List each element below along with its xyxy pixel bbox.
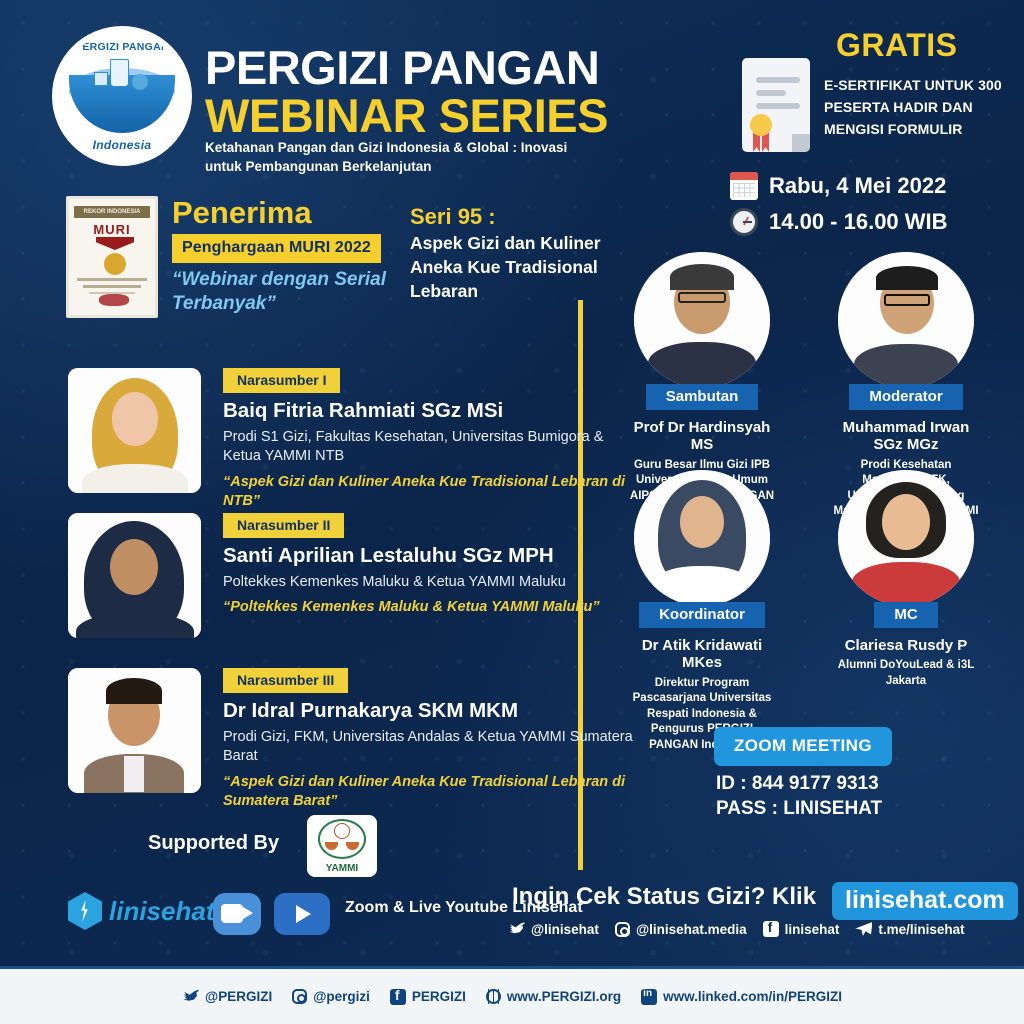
cta-text: Ingin Cek Status Gizi? Klik bbox=[512, 883, 816, 911]
speaker-affiliation-1: Prodi S1 Gizi, Fakultas Kesehatan, Unive… bbox=[223, 428, 643, 467]
social-facebook-linisehat-label: linisehat bbox=[785, 922, 840, 937]
speaker-chip-1: Narasumber I bbox=[223, 368, 340, 393]
muri-award-chip: Penghargaan MURI 2022 bbox=[172, 234, 381, 263]
certificate-icon bbox=[736, 58, 816, 158]
zoom-meeting-chip[interactable]: ZOOM MEETING bbox=[714, 727, 892, 766]
social-telegram-linisehat-label: t.me/linisehat bbox=[878, 922, 964, 937]
event-date-row: Rabu, 4 Mei 2022 bbox=[730, 172, 946, 200]
logo-arc-top-text: PERGIZI PANGAN bbox=[58, 41, 186, 53]
muri-award-quote: “Webinar dengan Serial Terbanyak” bbox=[172, 268, 407, 317]
footer-instagram-label: @pergizi bbox=[313, 989, 370, 1004]
footer-facebook-label: PERGIZI bbox=[412, 989, 466, 1004]
twitter-icon bbox=[508, 922, 525, 936]
social-instagram-linisehat-label: @linisehat.media bbox=[636, 922, 747, 937]
speaker-photo-1 bbox=[68, 368, 201, 493]
telegram-icon bbox=[855, 922, 872, 936]
footer-website-label: www.PERGIZI.org bbox=[507, 989, 621, 1004]
linisehat-social-row: @linisehat @linisehat.media linisehat t.… bbox=[508, 921, 965, 937]
zoom-meeting-credentials: ID : 844 9177 9313 PASS : LINISEHAT bbox=[716, 772, 882, 821]
poster-title-line2: WEBINAR SERIES bbox=[205, 92, 608, 139]
speaker-chip-2: Narasumber II bbox=[223, 513, 344, 538]
linisehat-hex-icon bbox=[68, 892, 102, 930]
social-telegram-linisehat[interactable]: t.me/linisehat bbox=[855, 922, 964, 937]
facebook-icon bbox=[390, 989, 406, 1005]
event-time-row: 14.00 - 16.00 WIB bbox=[730, 208, 948, 236]
panel-photo-sambutan bbox=[634, 252, 770, 388]
panel-card-koordinator: Koordinator Dr Atik Kridawati MKes Direk… bbox=[628, 470, 776, 753]
calendar-icon bbox=[730, 172, 758, 200]
linkedin-icon bbox=[641, 989, 657, 1005]
speaker-affiliation-2: Poltekkes Kemenkes Maluku & Ketua YAMMI … bbox=[223, 573, 643, 593]
panel-chip-mc: MC bbox=[874, 602, 937, 628]
footer-website[interactable]: www.PERGIZI.org bbox=[486, 989, 621, 1004]
speaker-topic-2: “Poltekkes Kemenkes Maluku & Ketua YAMMI… bbox=[223, 598, 643, 617]
muri-certificate-thumbnail: REKOR INDONESIA MURI bbox=[66, 196, 158, 318]
facebook-icon bbox=[763, 921, 779, 937]
speaker-topic-3: “Aspek Gizi dan Kuliner Aneka Kue Tradis… bbox=[223, 773, 643, 812]
footer-instagram[interactable]: @pergizi bbox=[292, 989, 370, 1004]
series-number: Seri 95 : bbox=[410, 204, 496, 230]
panel-name-koordinator: Dr Atik Kridawati MKes bbox=[628, 637, 776, 672]
panel-photo-mc bbox=[838, 470, 974, 606]
speaker-name-1: Baiq Fitria Rahmiati SGz MSi bbox=[223, 400, 643, 423]
panel-photo-moderator bbox=[838, 252, 974, 388]
speaker-photo-3 bbox=[68, 668, 201, 793]
certificate-description: E-SERTIFIKAT UNTUK 300 PESERTA HADIR DAN… bbox=[824, 74, 1024, 140]
footer-linkedin[interactable]: www.linked.com/in/PERGIZI bbox=[641, 989, 842, 1005]
panel-chip-koordinator: Koordinator bbox=[639, 602, 765, 628]
pergizi-pangan-logo: PERGIZI PANGAN Indonesia bbox=[52, 26, 192, 166]
instagram-icon bbox=[292, 989, 307, 1004]
speaker-name-2: Santi Aprilian Lestaluhu SGz MPH bbox=[223, 545, 643, 568]
panel-card-mc: MC Clariesa Rusdy P Alumni DoYouLead & i… bbox=[832, 470, 980, 689]
logo-cube-shape bbox=[94, 72, 108, 86]
footer-twitter-label: @PERGIZI bbox=[205, 989, 272, 1004]
penerima-heading: Penerima bbox=[172, 197, 312, 228]
muri-band-text: REKOR INDONESIA bbox=[74, 206, 150, 218]
event-time-text: 14.00 - 16.00 WIB bbox=[769, 209, 948, 235]
linisehat-logo: linisehat bbox=[68, 892, 214, 930]
panel-chip-sambutan: Sambutan bbox=[646, 384, 759, 410]
footer-bar: @PERGIZI @pergizi PERGIZI www.PERGIZI.or… bbox=[0, 966, 1024, 1024]
poster-canvas: PERGIZI PANGAN Indonesia PERGIZI PANGAN … bbox=[0, 0, 1024, 1024]
speaker-photo-2 bbox=[68, 513, 201, 638]
linisehat-wordmark: linisehat bbox=[109, 896, 214, 927]
speaker-chip-3: Narasumber III bbox=[223, 668, 348, 693]
logo-ball-shape bbox=[132, 74, 148, 90]
speaker-topic-1: “Aspek Gizi dan Kuliner Aneka Kue Tradis… bbox=[223, 473, 643, 512]
panel-name-moderator: Muhammad Irwan SGz MGz bbox=[832, 419, 980, 454]
social-twitter-linisehat[interactable]: @linisehat bbox=[508, 922, 599, 937]
social-instagram-linisehat[interactable]: @linisehat.media bbox=[615, 922, 747, 937]
panel-chip-moderator: Moderator bbox=[849, 384, 962, 410]
speaker-affiliation-3: Prodi Gizi, FKM, Universitas Andalas & K… bbox=[223, 728, 643, 767]
zoom-meeting-pass: PASS : LINISEHAT bbox=[716, 797, 882, 822]
yammi-logo-text: YAMMI bbox=[307, 863, 377, 874]
series-topic: Aspek Gizi dan Kuliner Aneka Kue Tradisi… bbox=[410, 232, 610, 303]
poster-title-line1: PERGIZI PANGAN bbox=[205, 44, 599, 91]
yammi-logo: YAMMI bbox=[307, 815, 377, 877]
zoom-meeting-id: ID : 844 9177 9313 bbox=[716, 772, 882, 797]
panel-role-mc: Alumni DoYouLead & i3L Jakarta bbox=[832, 658, 980, 689]
clock-icon bbox=[730, 208, 758, 236]
supported-by-label: Supported By bbox=[148, 832, 279, 855]
footer-linkedin-label: www.linked.com/in/PERGIZI bbox=[663, 989, 842, 1004]
social-twitter-linisehat-label: @linisehat bbox=[531, 922, 599, 937]
youtube-play-icon bbox=[274, 893, 330, 935]
linisehat-site-chip[interactable]: linisehat.com bbox=[832, 882, 1018, 920]
logo-arc-bottom-text: Indonesia bbox=[58, 138, 186, 152]
instagram-icon bbox=[615, 922, 630, 937]
muri-word-text: MURI bbox=[69, 222, 155, 237]
panel-name-mc: Clariesa Rusdy P bbox=[832, 637, 980, 654]
event-date-text: Rabu, 4 Mei 2022 bbox=[769, 173, 946, 199]
footer-facebook[interactable]: PERGIZI bbox=[390, 989, 466, 1005]
logo-glass-shape bbox=[110, 59, 129, 87]
panel-photo-koordinator bbox=[634, 470, 770, 606]
speaker-name-3: Dr Idral Purnakarya SKM MKM bbox=[223, 700, 643, 723]
gratis-label: GRATIS bbox=[836, 27, 958, 64]
poster-tagline: Ketahanan Pangan dan Gizi Indonesia & Gl… bbox=[205, 138, 605, 176]
footer-twitter[interactable]: @PERGIZI bbox=[182, 989, 272, 1004]
panel-name-sambutan: Prof Dr Hardinsyah MS bbox=[628, 419, 776, 454]
zoom-camera-icon bbox=[213, 893, 261, 935]
twitter-icon bbox=[182, 990, 199, 1004]
social-facebook-linisehat[interactable]: linisehat bbox=[763, 921, 840, 937]
globe-icon bbox=[486, 989, 501, 1004]
